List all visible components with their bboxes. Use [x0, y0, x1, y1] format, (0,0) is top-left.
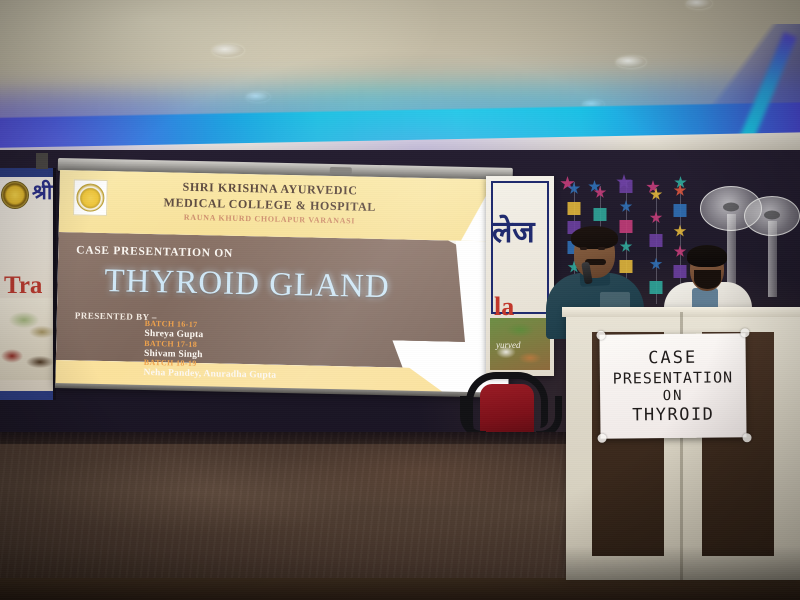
left-banner-hindi-text: श्री [32, 182, 52, 203]
screen-casing-bracket [330, 167, 352, 174]
paper-diamond-icon [674, 204, 687, 217]
fan-head [744, 196, 800, 236]
banner-bottom-border [0, 391, 53, 400]
recessed-downlight-icon [212, 44, 244, 57]
poster-tape [740, 328, 749, 337]
paper-diamond-icon [674, 265, 687, 278]
banner-logo-icon [1, 181, 29, 209]
poster-tape [596, 331, 605, 340]
crest-inner [76, 183, 105, 212]
fan-hub [723, 202, 739, 211]
recessed-downlight-icon [616, 56, 646, 68]
poster-line-1: CASE [648, 347, 697, 368]
speaker-eye-right [598, 247, 605, 250]
paper-diamond-icon [620, 220, 633, 233]
banner-herb-photo [0, 298, 54, 380]
speaker-hair [571, 226, 618, 249]
decoration-garland [648, 188, 664, 304]
college-crest-logo-icon [73, 179, 108, 216]
wall-fan-icon [744, 196, 800, 312]
paper-diamond-icon [620, 260, 633, 273]
recessed-downlight-icon [246, 92, 270, 102]
fan-hub [764, 210, 780, 219]
poster-line-2: PRESENTATION [613, 368, 734, 387]
right-banner-hindi-text: लेज [492, 218, 535, 248]
auditorium-scene: श्री Tra SHRI KRISHNA AYURVEDIC MEDICAL … [0, 0, 800, 600]
chair-back-cushion [480, 384, 534, 436]
paper-diamond-icon [650, 234, 663, 247]
speaker-eye-left [580, 247, 587, 250]
banner-photo-caption: yurved [496, 340, 521, 350]
projector-screen: SHRI KRISHNA AYURVEDIC MEDICAL COLLEGE &… [55, 170, 513, 395]
stage-front-lip [0, 578, 800, 600]
screen-wall-mount [36, 153, 48, 169]
lab-coat-beard [694, 270, 721, 289]
poster-tape [597, 434, 606, 443]
poster-tape [742, 433, 751, 442]
thyroid-case-poster: CASE PRESENTATION ON THYROID [599, 333, 746, 439]
paper-diamond-icon [594, 208, 607, 221]
slide-presenter-list: BATCH 16-17Shreya GuptaBATCH 17-18Shivam… [143, 320, 277, 382]
left-standee-banner: श्री Tra [0, 168, 56, 400]
banner-top-border [0, 168, 53, 177]
paper-diamond-icon [620, 180, 633, 193]
left-banner-red-text: Tra [4, 272, 42, 300]
paper-diamond-icon [650, 281, 663, 294]
poster-line-4: THYROID [632, 404, 714, 425]
right-standee-banner: लेज la yurved [486, 176, 554, 376]
lab-coat-hair [687, 245, 727, 267]
poster-line-3: ON [663, 387, 684, 403]
paper-diamond-icon [568, 202, 581, 215]
presentation-slide: SHRI KRISHNA AYURVEDIC MEDICAL COLLEGE &… [55, 170, 513, 395]
